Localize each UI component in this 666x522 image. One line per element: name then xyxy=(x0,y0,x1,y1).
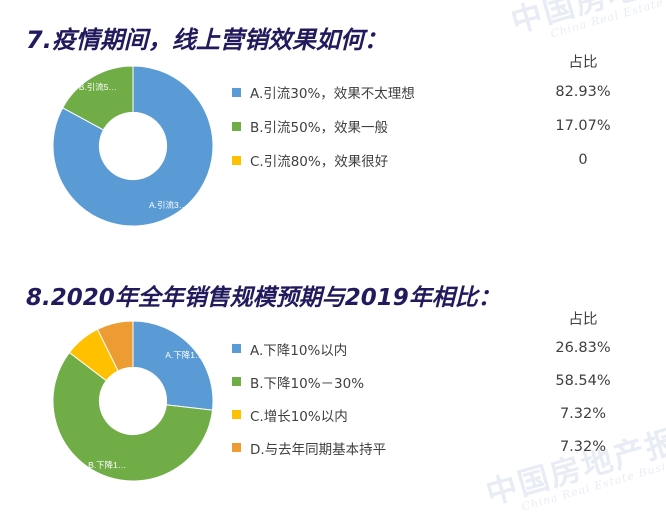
legend-item[interactable]: C.引流80%，效果很好 xyxy=(232,143,415,177)
donut-chart-svg: A.引流3…B.引流5… xyxy=(48,61,218,231)
chart-row-8: A.下降1…B.下降1… A.下降10%以内 B.下降10%－30% C.增长1… xyxy=(0,312,666,497)
legend-swatch-c-icon xyxy=(232,410,241,419)
percentage-value: 26.83% xyxy=(528,332,638,365)
donut-slice[interactable] xyxy=(133,321,213,410)
chart-row-7: A.引流3…B.引流5… A.引流30%，效果不太理想 B.引流50%，效果一般… xyxy=(0,55,666,240)
donut-slice-label: B.下降1… xyxy=(88,460,126,470)
percentage-value: 82.93% xyxy=(528,75,638,109)
legend-item[interactable]: D.与去年同期基本持平 xyxy=(232,431,386,464)
legend-item-label: C.引流80%，效果很好 xyxy=(250,150,388,170)
legend-swatch-b-icon xyxy=(232,122,241,131)
donut-slice-label: A.引流3… xyxy=(149,200,187,210)
legend-item[interactable]: C.增长10%以内 xyxy=(232,398,386,431)
legend-item-label: D.与去年同期基本持平 xyxy=(250,438,386,458)
percentage-value: 58.54% xyxy=(528,365,638,398)
page-title-question-7: 7.疫情期间，线上营销效果如何： xyxy=(26,20,666,55)
percentage-column-header: 占比 xyxy=(528,51,638,75)
legend-item[interactable]: A.下降10%以内 xyxy=(232,332,386,365)
legend-question-7: A.引流30%，效果不太理想 B.引流50%，效果一般 C.引流80%，效果很好 xyxy=(232,75,415,177)
legend-item[interactable]: B.引流50%，效果一般 xyxy=(232,109,415,143)
legend-item-label: C.增长10%以内 xyxy=(250,405,348,425)
percentage-column-question-7: 占比 82.93% 17.07% 0 xyxy=(528,51,638,177)
legend-item-label: A.下降10%以内 xyxy=(250,339,347,359)
survey-question-section-7: 7.疫情期间，线上营销效果如何： A.引流3…B.引流5… A.引流30%，效果… xyxy=(0,0,666,240)
legend-swatch-b-icon xyxy=(232,377,241,386)
legend-item-label: B.下降10%－30% xyxy=(250,372,364,392)
legend-swatch-a-icon xyxy=(232,344,241,353)
survey-question-section-8: 8.2020年全年销售规模预期与2019年相比： A.下降1…B.下降1… A.… xyxy=(0,262,666,497)
percentage-column-question-8: 占比 26.83% 58.54% 7.32% 7.32% xyxy=(528,308,638,464)
legend-swatch-a-icon xyxy=(232,88,241,97)
donut-chart-question-8: A.下降1…B.下降1… xyxy=(48,316,218,486)
percentage-value: 17.07% xyxy=(528,109,638,143)
donut-slice-label: B.引流5… xyxy=(79,82,117,92)
percentage-column-header: 占比 xyxy=(528,308,638,332)
legend-item[interactable]: B.下降10%－30% xyxy=(232,365,386,398)
donut-slice-label: A.下降1… xyxy=(165,350,203,360)
legend-swatch-c-icon xyxy=(232,156,241,165)
percentage-value: 7.32% xyxy=(528,398,638,431)
legend-swatch-d-icon xyxy=(232,443,241,452)
legend-item[interactable]: A.引流30%，效果不太理想 xyxy=(232,75,415,109)
legend-question-8: A.下降10%以内 B.下降10%－30% C.增长10%以内 D.与去年同期基… xyxy=(232,332,386,464)
percentage-value: 7.32% xyxy=(528,431,638,464)
donut-chart-svg: A.下降1…B.下降1… xyxy=(48,316,218,486)
legend-item-label: B.引流50%，效果一般 xyxy=(250,116,388,136)
page-title-question-8: 8.2020年全年销售规模预期与2019年相比： xyxy=(26,278,666,312)
legend-item-label: A.引流30%，效果不太理想 xyxy=(250,82,415,102)
donut-chart-question-7: A.引流3…B.引流5… xyxy=(48,61,218,231)
percentage-value: 0 xyxy=(528,143,638,177)
